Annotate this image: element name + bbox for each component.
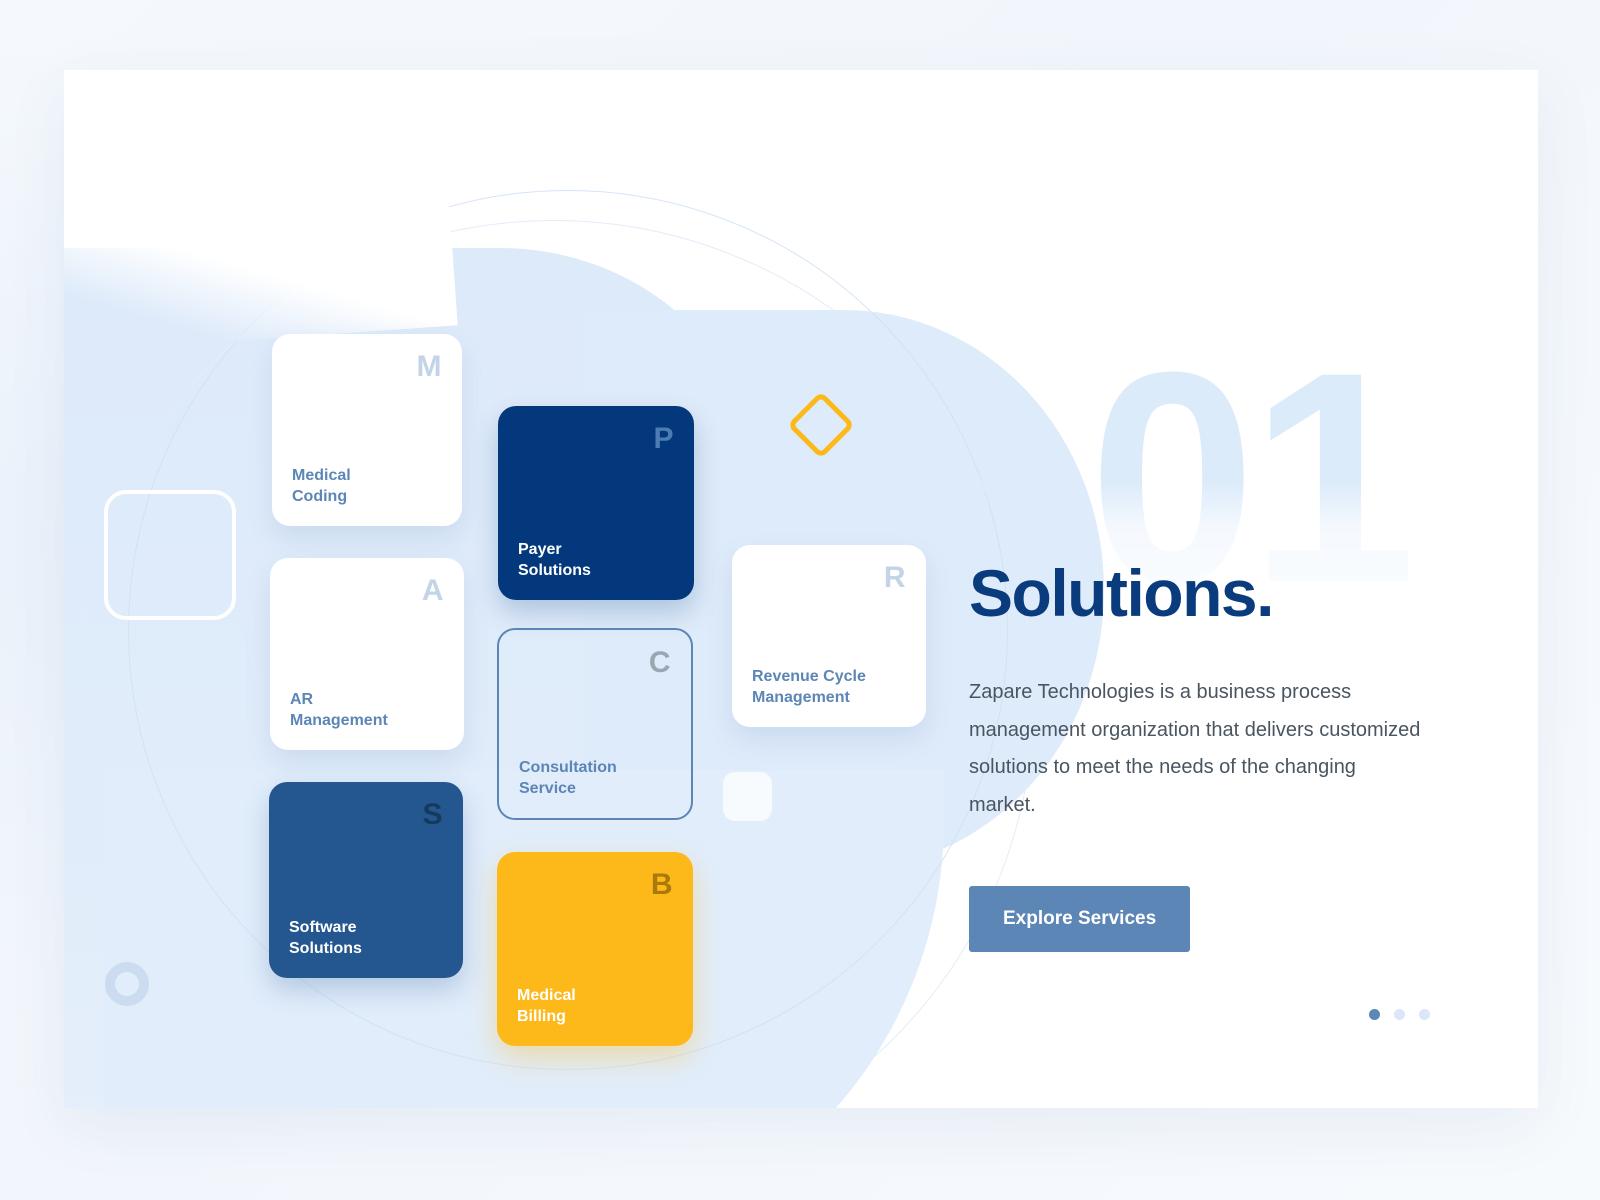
- service-card-consultation-service[interactable]: C Consultation Service: [497, 628, 693, 820]
- pagination-dot-2[interactable]: [1394, 1009, 1405, 1020]
- card-letter-p: P: [653, 424, 674, 454]
- explore-services-button[interactable]: Explore Services: [969, 886, 1190, 952]
- card-title-medical-coding: Medical Coding: [292, 465, 442, 508]
- slide-content: 01 Solutions. Zapare Technologies is a b…: [969, 350, 1529, 952]
- card-title-revenue-cycle-management: Revenue Cycle Management: [752, 666, 906, 709]
- pagination-dot-1[interactable]: [1369, 1009, 1380, 1020]
- card-title-consultation-service: Consultation Service: [519, 757, 671, 800]
- card-letter-r: R: [884, 563, 906, 593]
- service-card-medical-billing[interactable]: B Medical Billing: [497, 852, 693, 1046]
- page-title: Solutions.: [969, 560, 1529, 626]
- card-title-payer-solutions: Payer Solutions: [518, 539, 674, 582]
- service-card-software-solutions[interactable]: S Software Solutions: [269, 782, 463, 978]
- card-letter-b: B: [651, 870, 673, 900]
- card-title-ar-management: AR Management: [290, 689, 444, 732]
- pagination-dot-3[interactable]: [1419, 1009, 1430, 1020]
- card-letter-m: M: [417, 352, 443, 382]
- service-card-payer-solutions[interactable]: P Payer Solutions: [498, 406, 694, 600]
- card-letter-a: A: [422, 576, 444, 606]
- card-title-software-solutions: Software Solutions: [289, 917, 443, 960]
- service-card-medical-coding[interactable]: M Medical Coding: [272, 334, 462, 526]
- slide-panel: M Medical Coding P Payer Solutions A AR …: [64, 70, 1538, 1108]
- carousel-pagination: [1369, 1009, 1430, 1020]
- card-letter-s: S: [422, 800, 443, 830]
- service-card-revenue-cycle-management[interactable]: R Revenue Cycle Management: [732, 545, 926, 727]
- card-title-medical-billing: Medical Billing: [517, 985, 673, 1028]
- service-card-ar-management[interactable]: A AR Management: [270, 558, 464, 750]
- slide-description: Zapare Technologies is a business proces…: [969, 674, 1421, 824]
- card-letter-c: C: [649, 648, 671, 678]
